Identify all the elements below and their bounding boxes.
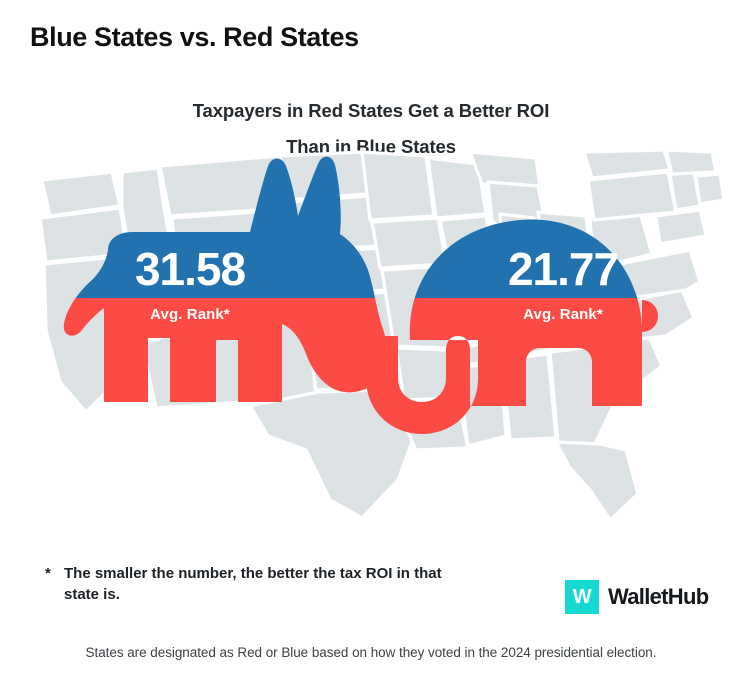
wallethub-logo-mark: W: [565, 580, 599, 614]
subtitle-line-1: Taxpayers in Red States Get a Better ROI: [0, 100, 742, 122]
footnote: * The smaller the number, the better the…: [45, 563, 445, 605]
elephant-avg-rank-value: 21.77: [508, 243, 618, 295]
party-figures-layer: 31.58 Avg. Rank* 21.77 Avg. Rank*: [0, 150, 742, 540]
footnote-text: The smaller the number, the better the t…: [64, 563, 445, 605]
page-title: Blue States vs. Red States: [30, 22, 359, 53]
footnote-marker: *: [45, 563, 51, 584]
donkey-avg-rank-value: 31.58: [135, 243, 246, 295]
chart-stage: 31.58 Avg. Rank* 21.77 Avg. Rank*: [0, 150, 742, 540]
wallethub-logo[interactable]: W WalletHub: [565, 580, 708, 614]
donkey-avg-rank-caption: Avg. Rank*: [150, 306, 230, 323]
wallethub-logo-letter: W: [573, 587, 591, 607]
wallethub-wordmark: WalletHub: [608, 584, 708, 610]
disclaimer-text: States are designated as Red or Blue bas…: [0, 645, 742, 660]
elephant-avg-rank-caption: Avg. Rank*: [523, 306, 603, 323]
infographic-canvas: Blue States vs. Red States Taxpayers in …: [0, 0, 742, 676]
